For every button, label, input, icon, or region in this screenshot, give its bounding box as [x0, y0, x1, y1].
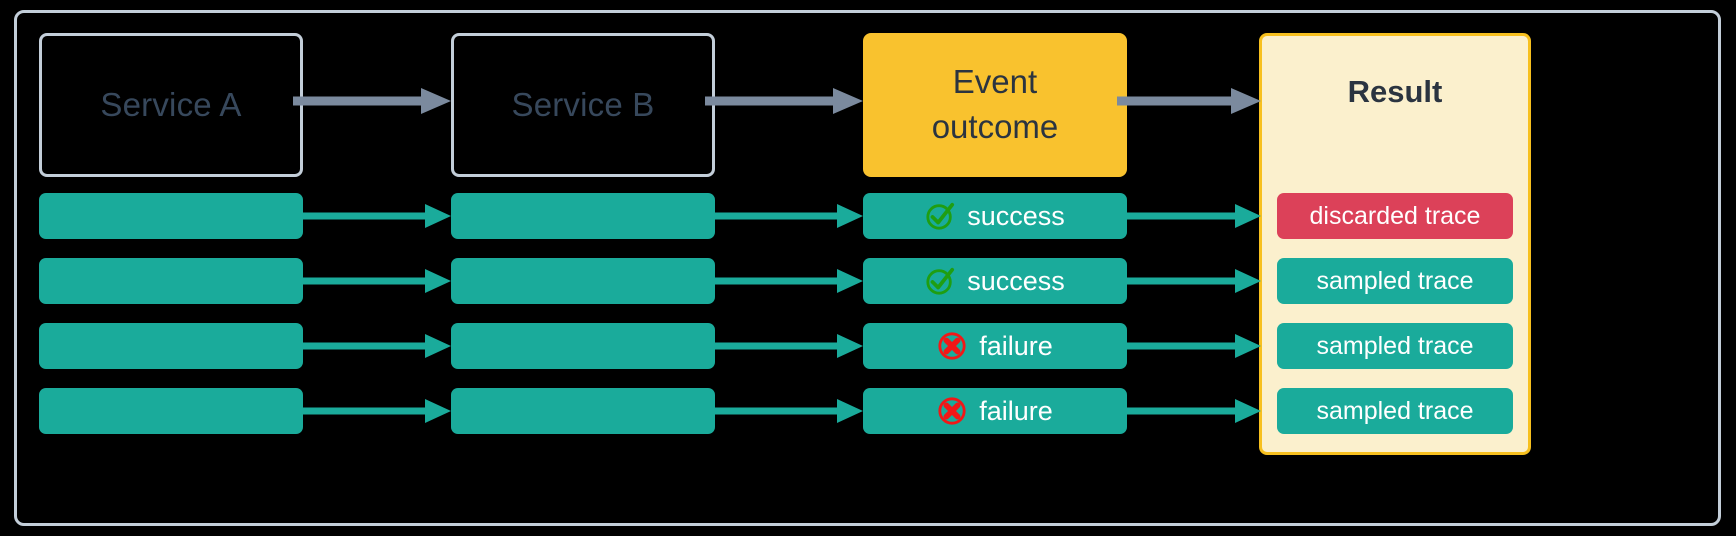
outcome-chip-success: success [863, 258, 1127, 304]
outcome-chip-failure: failure [863, 388, 1127, 434]
service-a-box: Service A [39, 33, 303, 177]
table-row [39, 323, 303, 369]
row-arrow-a-to-b [289, 196, 455, 236]
x-circle-icon [937, 331, 967, 361]
table-row [451, 388, 715, 434]
row-arrow-b-to-outcome [701, 391, 867, 431]
check-circle-icon [925, 201, 955, 231]
result-label: sampled trace [1316, 267, 1473, 296]
outcome-label: failure [979, 331, 1053, 362]
header-arrow-outcome-to-result [1113, 81, 1265, 121]
result-chip-discarded: discarded trace [1277, 193, 1513, 239]
result-label: sampled trace [1316, 397, 1473, 426]
header-arrow-b-to-outcome [701, 81, 867, 121]
result-chip-sampled: sampled trace [1277, 388, 1513, 434]
row-arrow-a-to-b [289, 261, 455, 301]
outcome-chip-failure: failure [863, 323, 1127, 369]
table-row [39, 193, 303, 239]
x-circle-icon [937, 396, 967, 426]
outcome-label: failure [979, 396, 1053, 427]
result-panel-title: Result [1262, 74, 1528, 110]
result-label: discarded trace [1310, 202, 1481, 231]
table-row [39, 258, 303, 304]
service-b-box: Service B [451, 33, 715, 177]
row-arrow-outcome-to-result [1113, 196, 1265, 236]
service-a-label: Service A [100, 86, 241, 124]
header-arrow-a-to-b [289, 81, 455, 121]
event-outcome-label-line2: outcome [932, 105, 1059, 150]
row-arrow-a-to-b [289, 326, 455, 366]
service-b-label: Service B [511, 86, 654, 124]
row-arrow-outcome-to-result [1113, 391, 1265, 431]
outcome-chip-success: success [863, 193, 1127, 239]
table-row [451, 258, 715, 304]
result-chip-sampled: sampled trace [1277, 258, 1513, 304]
row-arrow-b-to-outcome [701, 326, 867, 366]
result-label: sampled trace [1316, 332, 1473, 361]
outcome-label: success [967, 266, 1065, 297]
result-chip-sampled: sampled trace [1277, 323, 1513, 369]
check-circle-icon [925, 266, 955, 296]
table-row [39, 388, 303, 434]
row-arrow-b-to-outcome [701, 196, 867, 236]
row-arrow-b-to-outcome [701, 261, 867, 301]
table-row [451, 193, 715, 239]
event-outcome-label-line1: Event [932, 60, 1059, 105]
row-arrow-outcome-to-result [1113, 326, 1265, 366]
event-outcome-box: Event outcome [863, 33, 1127, 177]
row-arrow-outcome-to-result [1113, 261, 1265, 301]
diagram-frame: Service A Service B Event outcome Result… [14, 10, 1721, 526]
outcome-label: success [967, 201, 1065, 232]
row-arrow-a-to-b [289, 391, 455, 431]
table-row [451, 323, 715, 369]
